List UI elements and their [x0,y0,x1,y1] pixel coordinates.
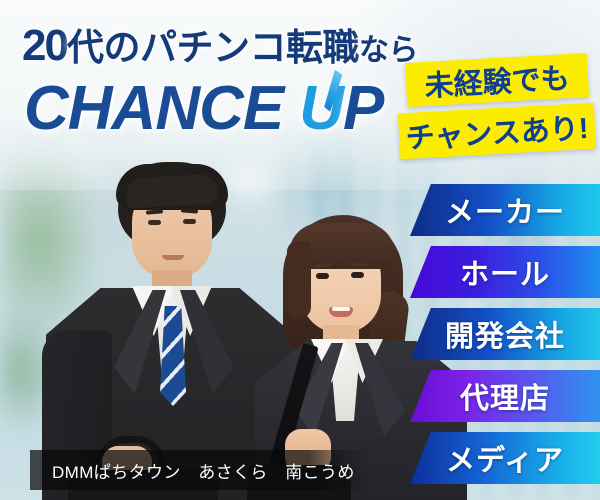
category-button-media[interactable]: メディア [410,432,600,484]
category-button-agency[interactable]: 代理店 [410,370,600,422]
logo-letter-u: U [299,73,343,144]
woman-eye-right [351,272,364,278]
man-striped-necktie [160,306,186,406]
logo-word-chance: CHANCE [24,74,283,143]
headline-number: 20 [22,21,67,70]
woman-teeth [332,307,350,311]
headline-main: 代のパチンコ転職 [67,27,359,68]
credits-caption: DMMぱちタウン あさくら 南こうめ [30,450,370,490]
chance-up-logo: CHANCEUP [24,73,383,144]
man-fringe [125,174,218,209]
woman-side-hair [287,241,311,319]
advertisement-banner[interactable]: 20代のパチンコ転職なら CHANCEUP 未経験でも チャンスあり! メーカー… [0,0,600,500]
category-button-maker[interactable]: メーカー [410,184,600,236]
logo-letter-p: P [343,73,383,144]
category-button-hall[interactable]: ホール [410,246,600,298]
man-eye-left [148,220,161,225]
woman-eye-left [316,273,329,279]
man-mouth [162,255,184,260]
category-button-developer[interactable]: 開発会社 [410,308,600,360]
man-eye-right [183,219,196,224]
headline-text: 20代のパチンコ転職なら [22,17,418,71]
